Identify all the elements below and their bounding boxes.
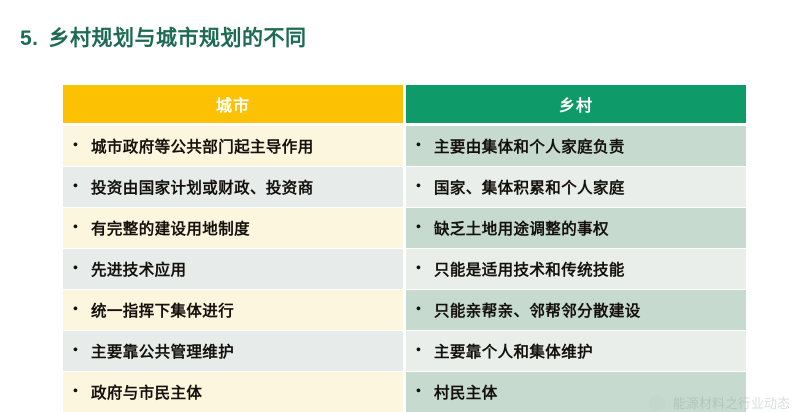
column-header-city: 城市: [63, 85, 403, 123]
table-row: • 村民主体: [406, 372, 746, 412]
table-column-rural: 乡村 • 主要由集体和个人家庭负责 • 国家、集体积累和个人家庭 • 缺乏土地用…: [406, 85, 746, 412]
bullet-icon: •: [416, 180, 434, 194]
cell-text: 统一指挥下集体进行: [91, 299, 234, 321]
cell-text: 主要由集体和个人家庭负责: [434, 135, 625, 157]
cell-text: 主要靠公共管理维护: [91, 340, 234, 362]
bullet-icon: •: [73, 139, 91, 153]
cell-text: 投资由国家计划或财政、投资商: [91, 176, 314, 198]
table-row: • 投资由国家计划或财政、投资商: [63, 167, 403, 207]
table-row: • 主要由集体和个人家庭负责: [406, 126, 746, 166]
bullet-icon: •: [416, 344, 434, 358]
bullet-icon: •: [416, 139, 434, 153]
table-row: • 只能是适用技术和传统技能: [406, 249, 746, 289]
cell-text: 有完整的建设用地制度: [91, 217, 250, 239]
bullet-icon: •: [416, 221, 434, 235]
page-title-number: 5.: [20, 27, 39, 51]
cell-text: 政府与市民主体: [91, 381, 202, 403]
table-row: • 缺乏土地用途调整的事权: [406, 208, 746, 248]
cell-text: 缺乏土地用途调整的事权: [434, 217, 609, 239]
comparison-table: 城市 • 城市政府等公共部门起主导作用 • 投资由国家计划或财政、投资商 • 有…: [63, 85, 752, 412]
cell-text: 村民主体: [434, 381, 498, 403]
bullet-icon: •: [73, 344, 91, 358]
cell-text: 主要靠个人和集体维护: [434, 340, 593, 362]
table-row: • 统一指挥下集体进行: [63, 290, 403, 330]
cell-text: 先进技术应用: [91, 258, 186, 280]
bullet-icon: •: [73, 262, 91, 276]
bullet-icon: •: [416, 385, 434, 399]
cell-text: 城市政府等公共部门起主导作用: [91, 135, 314, 157]
table-row: • 有完整的建设用地制度: [63, 208, 403, 248]
page-title-text: 乡村规划与城市规划的不同: [49, 22, 307, 52]
table-row: • 国家、集体积累和个人家庭: [406, 167, 746, 207]
bullet-icon: •: [416, 262, 434, 276]
bullet-icon: •: [73, 385, 91, 399]
column-header-rural: 乡村: [406, 85, 746, 123]
table-row: • 先进技术应用: [63, 249, 403, 289]
bullet-icon: •: [73, 180, 91, 194]
table-row: • 城市政府等公共部门起主导作用: [63, 126, 403, 166]
bullet-icon: •: [73, 221, 91, 235]
cell-text: 国家、集体积累和个人家庭: [434, 176, 625, 198]
table-row: • 只能亲帮亲、邻帮邻分散建设: [406, 290, 746, 330]
table-row: • 主要靠公共管理维护: [63, 331, 403, 371]
table-row: • 主要靠个人和集体维护: [406, 331, 746, 371]
table-column-city: 城市 • 城市政府等公共部门起主导作用 • 投资由国家计划或财政、投资商 • 有…: [63, 85, 403, 412]
bullet-icon: •: [73, 303, 91, 317]
page-title: 5. 乡村规划与城市规划的不同: [20, 22, 307, 52]
table-row: • 政府与市民主体: [63, 372, 403, 412]
cell-text: 只能亲帮亲、邻帮邻分散建设: [434, 299, 641, 321]
bullet-icon: •: [416, 303, 434, 317]
cell-text: 只能是适用技术和传统技能: [434, 258, 625, 280]
